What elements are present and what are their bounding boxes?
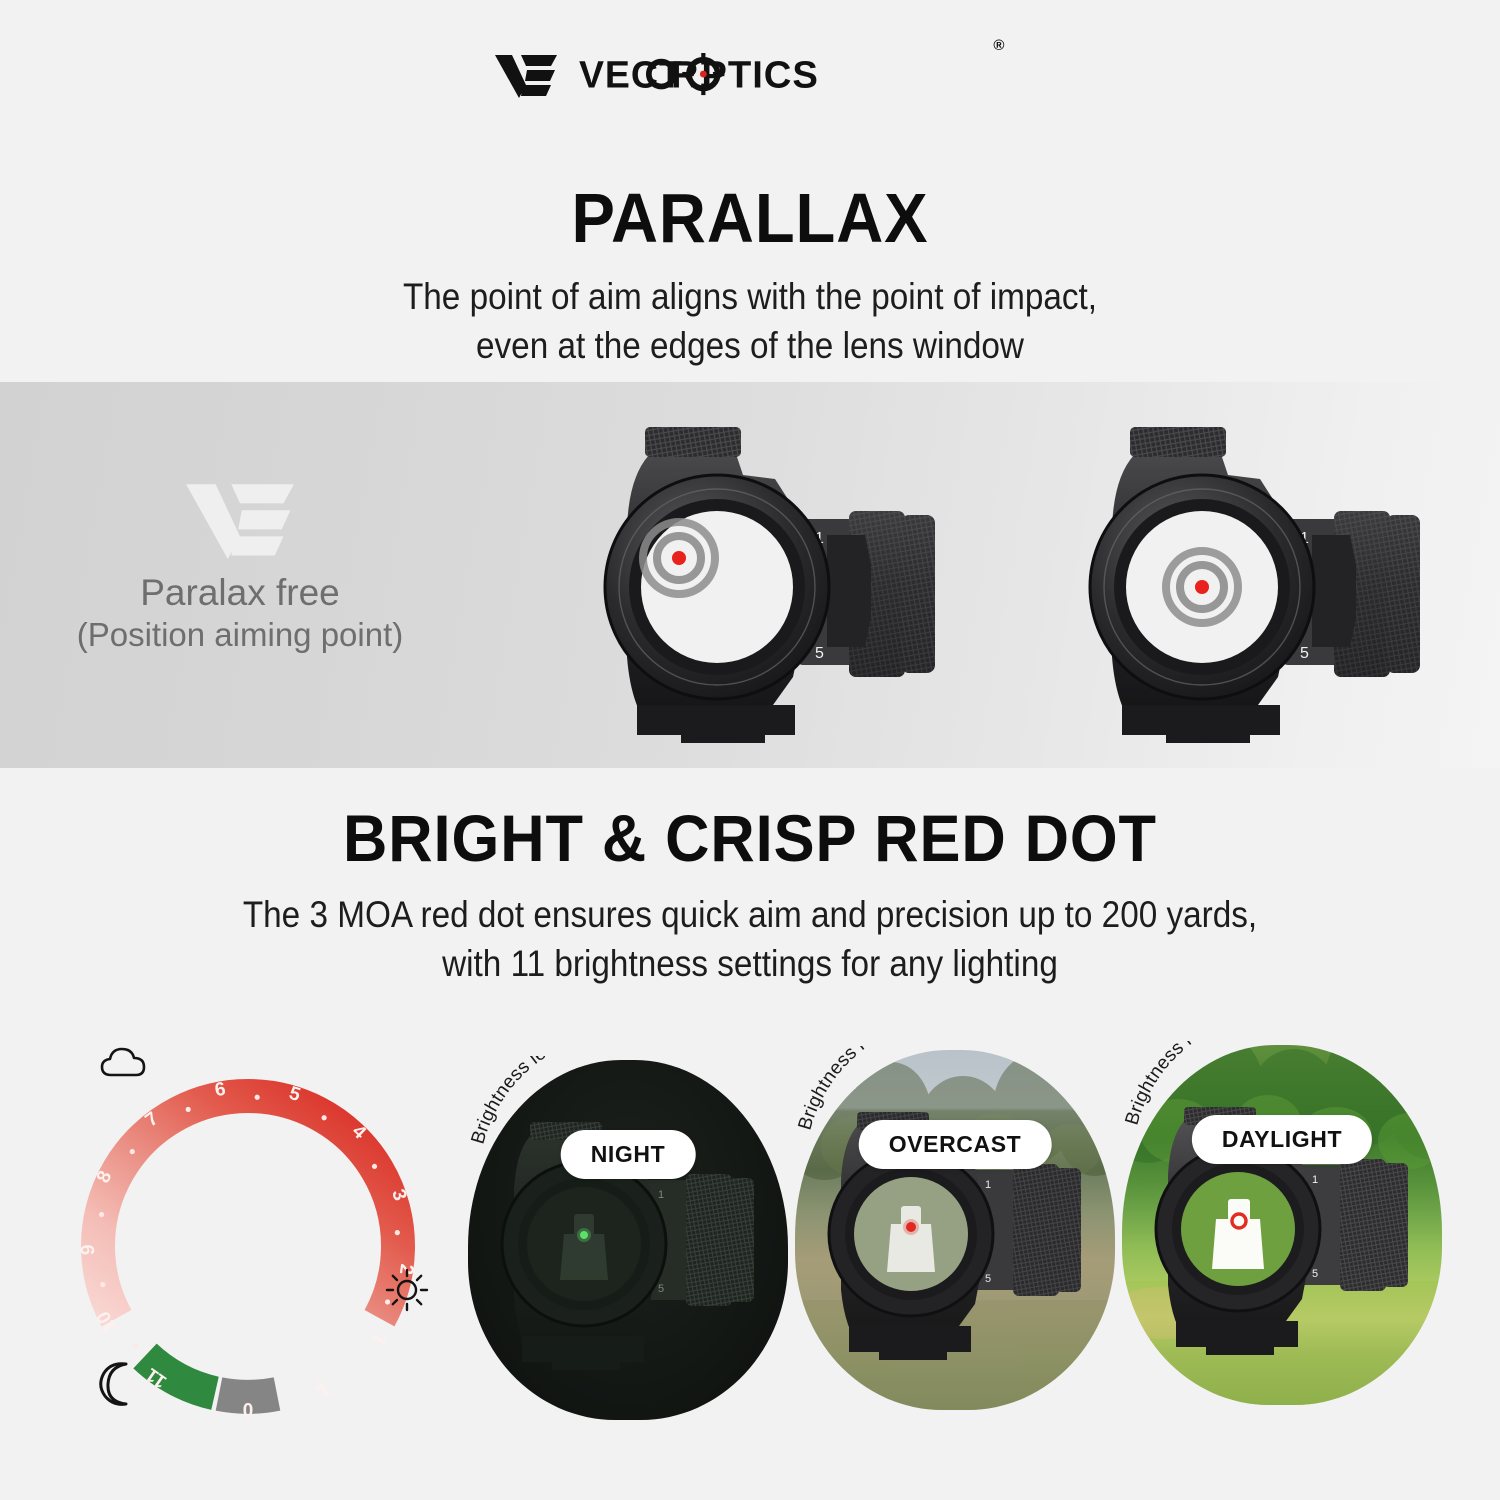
parallax-subtitle: The point of aim aligns with the point o… bbox=[75, 272, 1425, 370]
svg-text:5: 5 bbox=[658, 1283, 664, 1295]
parallax-title: PARALLAX bbox=[53, 178, 1448, 258]
turret-mark-5: 5 bbox=[1300, 645, 1309, 662]
dial-label-1: 1 bbox=[367, 1328, 391, 1349]
red-dot bbox=[1195, 580, 1209, 594]
parallax-subtitle-line2: even at the edges of the lens window bbox=[75, 321, 1425, 370]
dial-label-L: L bbox=[311, 1379, 331, 1403]
sun-icon bbox=[385, 1268, 429, 1312]
svg-text:1: 1 bbox=[1312, 1174, 1318, 1186]
scene-daylight: Brightness levels: 11 bbox=[1122, 1045, 1442, 1405]
dial-label-0: 0 bbox=[243, 1398, 254, 1419]
brand-header: VECT R PTICS ® bbox=[0, 0, 1500, 150]
red-dot-subtitle-line2: with 11 brightness settings for any ligh… bbox=[75, 939, 1425, 988]
night-badge: NIGHT bbox=[561, 1130, 696, 1179]
scene-overcast: Brightness levels: 6 bbox=[795, 1050, 1115, 1410]
dial-label-9: 9 bbox=[78, 1244, 99, 1255]
night-scene-image: 1 5 bbox=[468, 1060, 788, 1420]
turret-mark-5: 5 bbox=[815, 645, 824, 662]
svg-text:1: 1 bbox=[658, 1189, 664, 1201]
overcast-badge: OVERCAST bbox=[859, 1120, 1052, 1169]
red-dot-title: BRIGHT & CRISP RED DOT bbox=[53, 800, 1448, 876]
reticle-target-rings bbox=[643, 522, 715, 594]
red-dot bbox=[672, 551, 686, 565]
dial-segment-0 bbox=[219, 1394, 277, 1397]
overcast-scene-image: 1 5 bbox=[795, 1050, 1115, 1410]
daylight-badge: DAYLIGHT bbox=[1192, 1115, 1372, 1164]
reticle-target-rings bbox=[1166, 551, 1238, 623]
position-aiming-point-caption: (Position aiming point) bbox=[77, 614, 404, 655]
svg-text:5: 5 bbox=[1312, 1268, 1318, 1280]
scene-night: Brightness level: 1, night 1 5 bbox=[468, 1060, 788, 1420]
svg-text:1: 1 bbox=[985, 1179, 991, 1191]
red-dot-subtitle: The 3 MOA red dot ensures quick aim and … bbox=[75, 890, 1425, 988]
svg-text:5: 5 bbox=[985, 1273, 991, 1285]
parallax-caption-block: Paralax free (Position aiming point) bbox=[60, 452, 420, 682]
wordmark-text: VECT R PTICS bbox=[579, 53, 990, 97]
cloud-icon bbox=[98, 1043, 150, 1083]
red-dot-subtitle-line1: The 3 MOA red dot ensures quick aim and … bbox=[75, 890, 1425, 939]
paralax-free-caption: Paralax free bbox=[140, 573, 340, 614]
vector-optics-ve-mark bbox=[495, 52, 557, 98]
registered-trademark: ® bbox=[993, 37, 1005, 54]
ve-watermark-icon bbox=[185, 479, 295, 559]
vector-optics-wordmark: VECT R PTICS ® bbox=[579, 53, 1005, 97]
red-dot-sight-centered: 1 5 bbox=[1050, 415, 1470, 745]
parallax-subtitle-line1: The point of aim aligns with the point o… bbox=[75, 272, 1425, 321]
moon-icon bbox=[95, 1358, 143, 1410]
red-dot-sight-off-center: 1 5 bbox=[565, 415, 985, 745]
daylight-scene-image: 1 5 bbox=[1122, 1045, 1442, 1405]
